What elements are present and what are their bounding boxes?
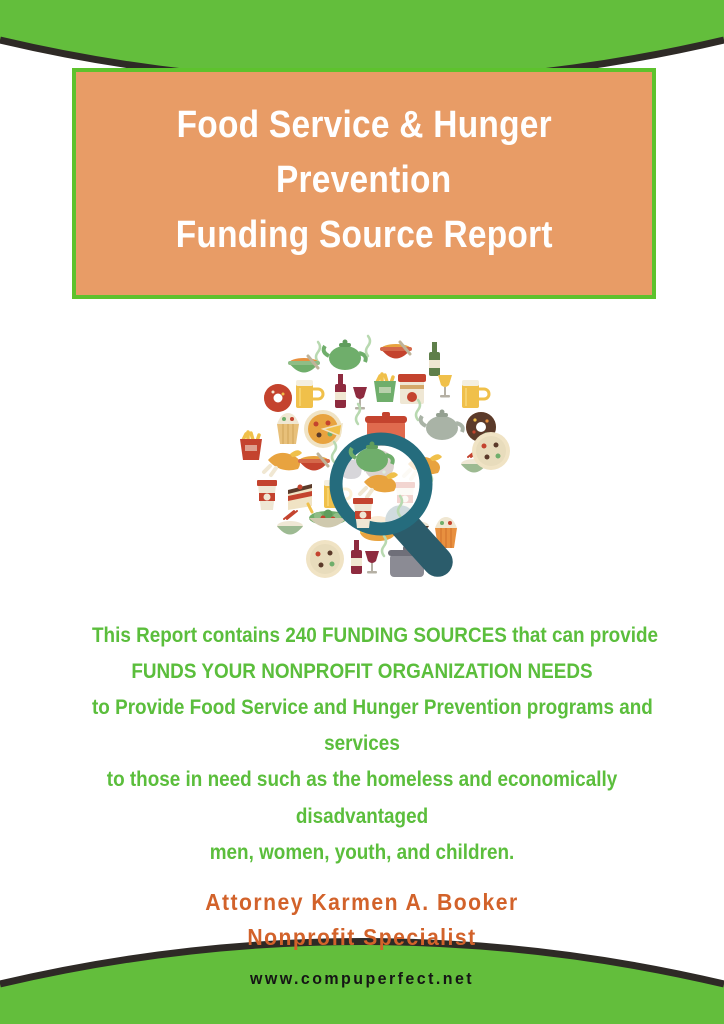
- website-url[interactable]: www.compuperfect.net: [80, 969, 644, 989]
- footer: Attorney Karmen A. Booker Nonprofit Spec…: [62, 885, 662, 989]
- author-name: Attorney Karmen A. Booker: [86, 885, 638, 920]
- body-line-6: disadvantaged: [92, 799, 632, 835]
- report-cover-page: Food Service & Hunger Prevention Funding…: [0, 0, 724, 1024]
- title-line-2: Prevention: [276, 153, 451, 208]
- title-banner: Food Service & Hunger Prevention Funding…: [72, 68, 656, 299]
- food-collage-svg: [232, 332, 512, 587]
- body-copy: This Report contains 240 FUNDING SOURCES…: [62, 618, 662, 871]
- title-line-3: Funding Source Report: [175, 208, 552, 263]
- author-title: Nonprofit Specialist: [86, 920, 638, 955]
- body-line-5: to those in need such as the homeless an…: [92, 762, 632, 798]
- body-line-2: FUNDS YOUR NONPROFIT ORGANIZATION NEEDS: [92, 654, 632, 690]
- title-line-1: Food Service & Hunger: [176, 98, 551, 153]
- body-line-7: men, women, youth, and children.: [92, 835, 632, 871]
- food-collage-illustration: [232, 332, 512, 587]
- body-line-3: to Provide Food Service and Hunger Preve…: [92, 690, 632, 726]
- body-line-1: This Report contains 240 FUNDING SOURCES…: [92, 618, 632, 654]
- body-line-4: services: [92, 726, 632, 762]
